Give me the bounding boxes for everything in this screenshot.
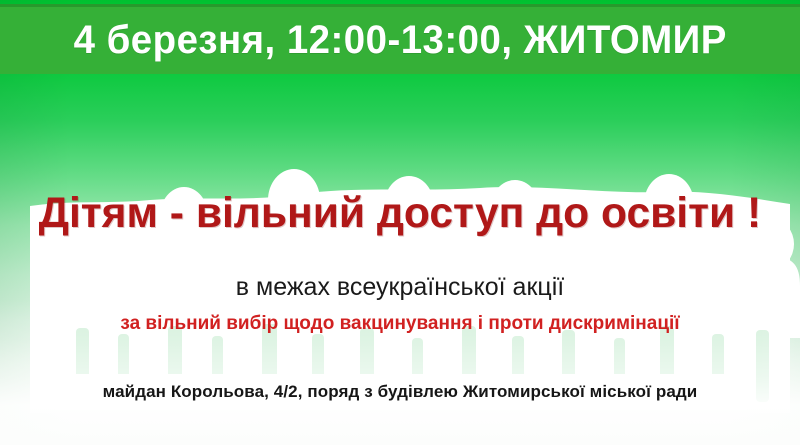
- crowd-silhouette-artwork: [0, 88, 800, 413]
- header-bar: 4 березня, 12:00-13:00, ЖИТОМИР: [0, 4, 800, 74]
- poster-canvas: 4 березня, 12:00-13:00, ЖИТОМИР Дітям - …: [0, 0, 800, 445]
- subtitle-secondary-text: за вільний вибір щодо вакцинування і про…: [120, 313, 679, 334]
- address-text: майдан Корольова, 4/2, поряд з будівлею …: [103, 382, 698, 402]
- headline-text: Дітям - вільний доступ до освіти !: [39, 189, 762, 237]
- subtitle-secondary: за вільний вибір щодо вакцинування і про…: [0, 312, 800, 336]
- headline: Дітям - вільний доступ до освіти !: [0, 189, 800, 237]
- subtitle-primary: в межах всеукраїнської акції: [0, 272, 800, 302]
- header-event-info: 4 березня, 12:00-13:00, ЖИТОМИР: [73, 18, 726, 63]
- address-band: майдан Корольова, 4/2, поряд з будівлею …: [52, 374, 748, 410]
- subtitle-primary-text: в межах всеукраїнської акції: [236, 273, 564, 301]
